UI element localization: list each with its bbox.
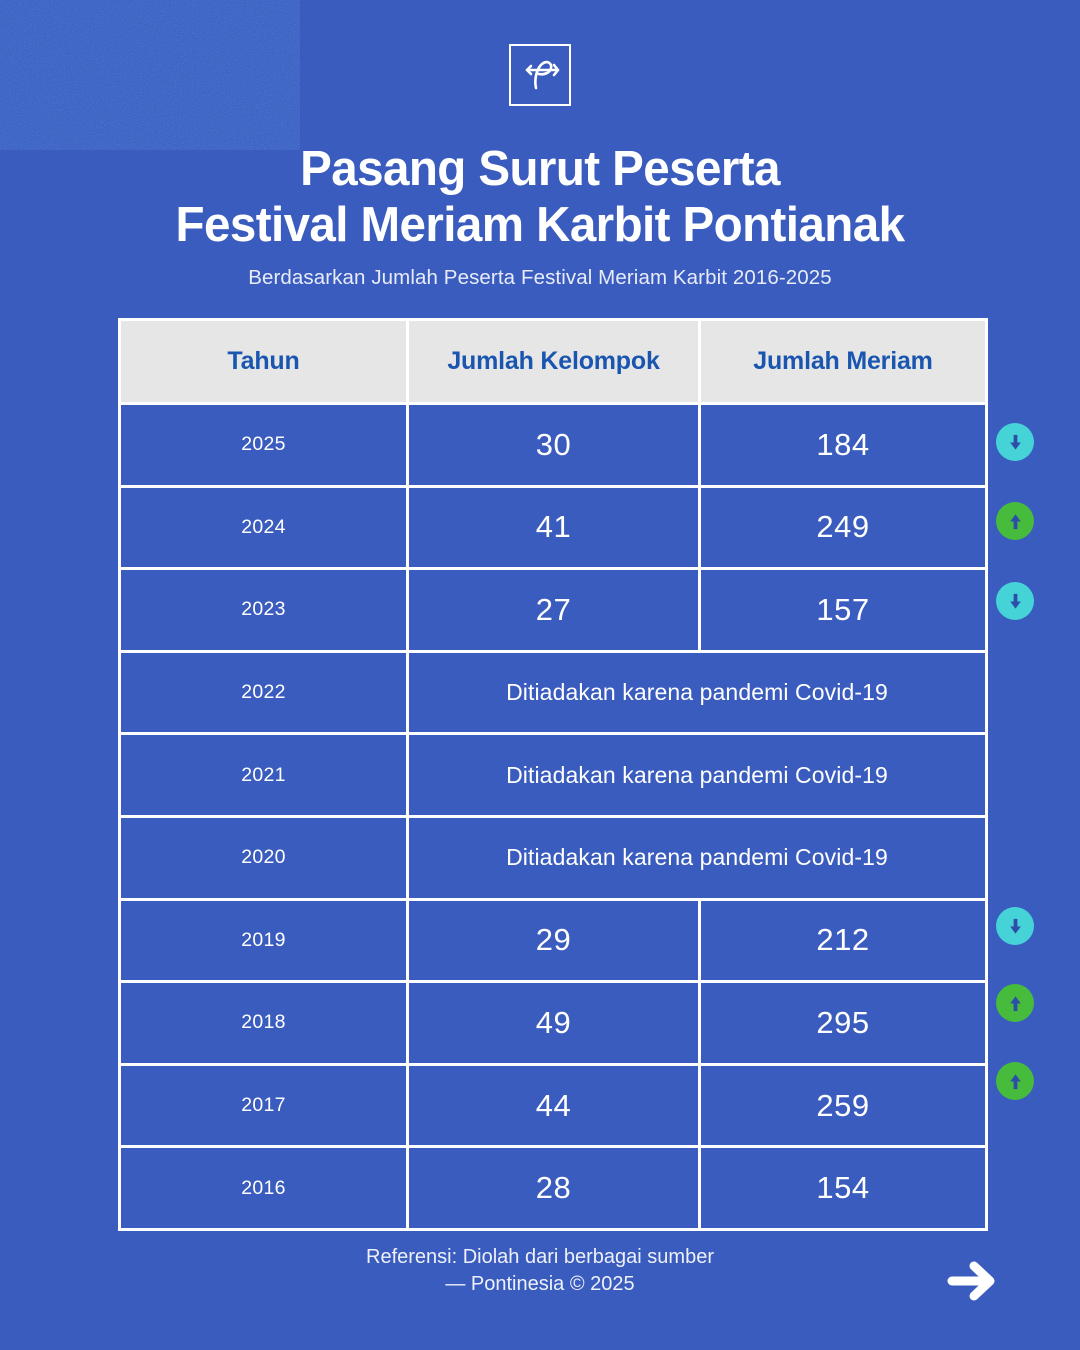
trend-down-icon-2019 xyxy=(996,907,1034,945)
trend-up-icon-2017 xyxy=(996,1062,1034,1100)
trend-down-icon-2025 xyxy=(996,423,1034,461)
trend-down-icon-2023 xyxy=(996,582,1034,620)
arrow-down-icon xyxy=(1006,433,1025,452)
trend-up-icon-2018 xyxy=(996,984,1034,1022)
arrow-up-icon xyxy=(1006,512,1025,531)
arrow-down-icon xyxy=(1006,592,1025,611)
footer-reference: Referensi: Diolah dari berbagai sumber xyxy=(366,1246,714,1268)
trend-up-icon-2024 xyxy=(996,502,1034,540)
arrow-up-icon xyxy=(1006,994,1025,1013)
arrow-right-icon[interactable] xyxy=(944,1258,1002,1304)
arrow-down-icon xyxy=(1006,917,1025,936)
trend-badge-column xyxy=(0,0,1080,1350)
arrow-up-icon xyxy=(1006,1072,1025,1091)
footer-credit: Referensi: Diolah dari berbagai sumber —… xyxy=(0,1244,1080,1298)
footer-copyright: — Pontinesia © 2025 xyxy=(0,1271,1080,1298)
